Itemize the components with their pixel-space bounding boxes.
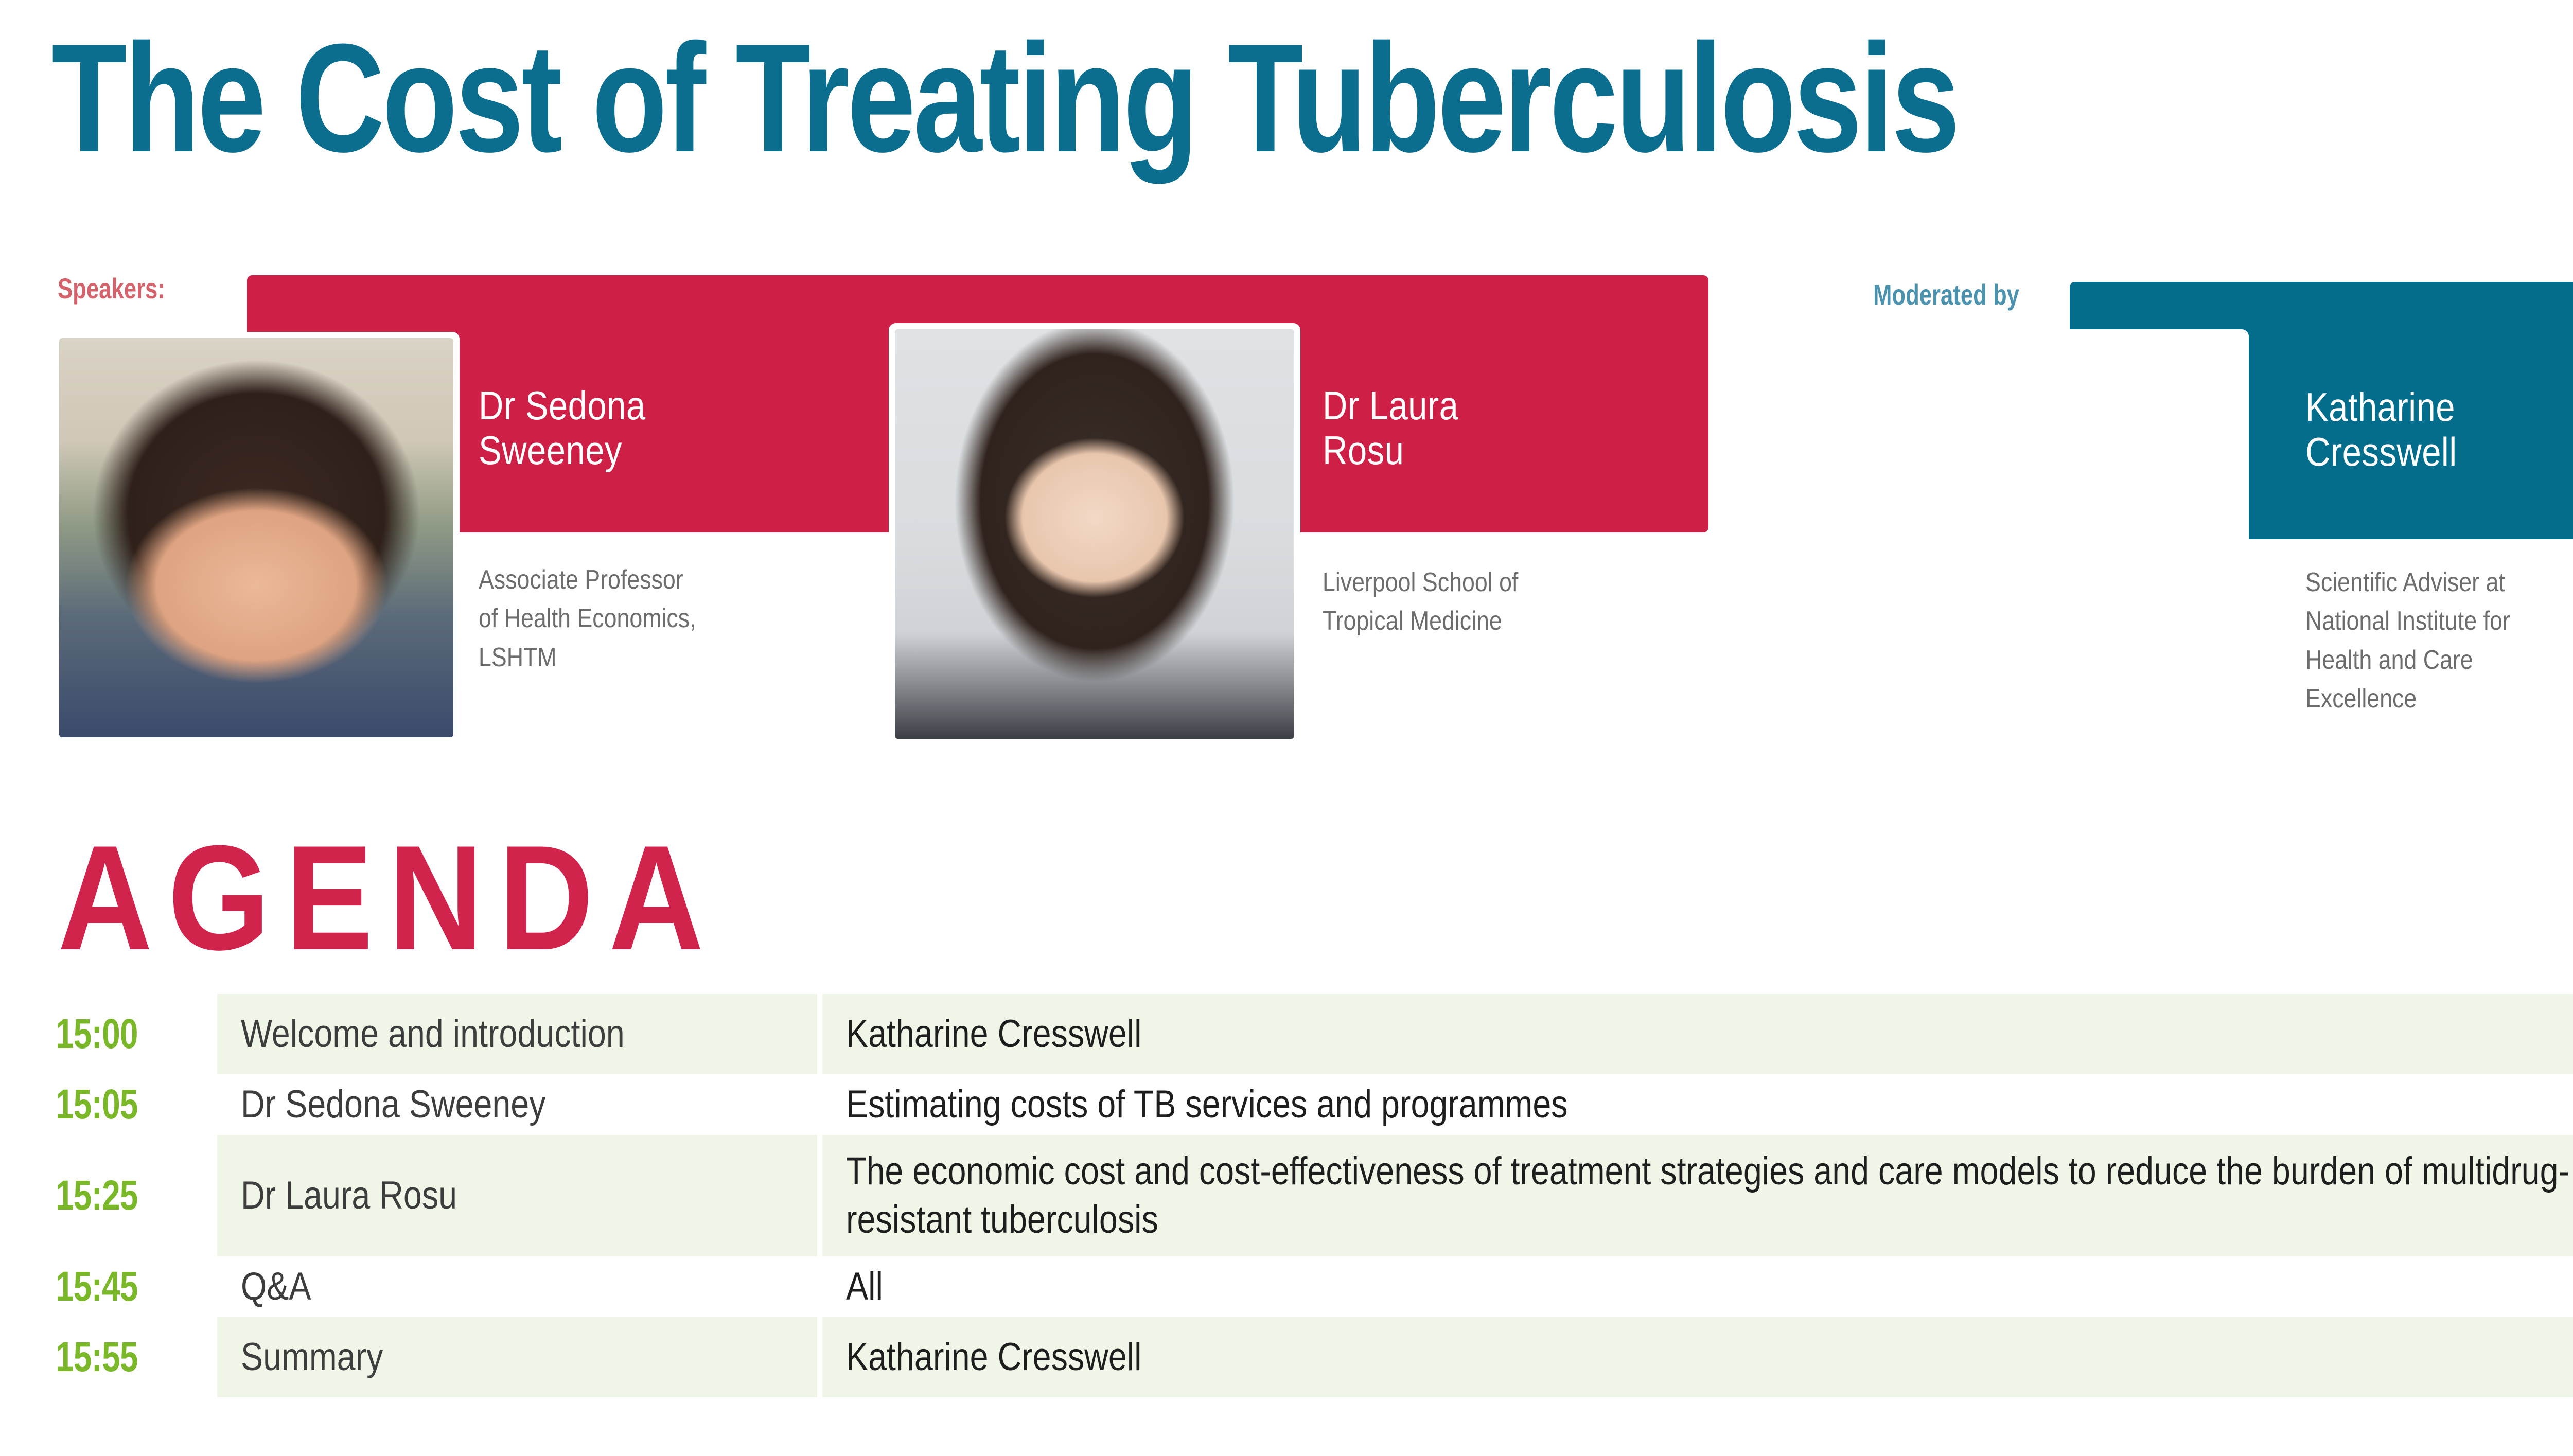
agenda-speaker: Welcome and introduction (217, 994, 817, 1074)
speaker-name-sedona-sweeney: Dr Sedona Sweeney (479, 383, 646, 473)
agenda-speaker-text: Dr Sedona Sweeney (241, 1082, 546, 1126)
agenda-description-text: Katharine Cresswell (846, 1333, 1141, 1381)
agenda-speaker: Q&A (217, 1256, 817, 1317)
agenda-description: The economic cost and cost-effectiveness… (817, 1135, 2573, 1256)
agenda-row: 15:45Q&AAll (0, 1256, 2573, 1317)
avatar-katharine-cresswell (1868, 329, 2249, 756)
moderator-role-katharine-cresswell: Scientific Adviser at National Institute… (2305, 563, 2510, 719)
agenda-heading: AGENDA (58, 823, 719, 972)
agenda-speaker-text: Q&A (241, 1265, 311, 1308)
speaker-role-laura-rosu: Liverpool School of Tropical Medicine (1323, 563, 1518, 641)
agenda-row: 15:25Dr Laura RosuThe economic cost and … (0, 1135, 2573, 1256)
agenda-time: 15:25 (0, 1135, 217, 1256)
agenda-time: 15:55 (0, 1317, 217, 1397)
agenda-description: All (817, 1256, 2573, 1317)
agenda-row: 15:55SummaryKatharine Cresswell (0, 1317, 2573, 1397)
agenda-speaker-text: Summary (241, 1335, 383, 1379)
agenda-description: Katharine Cresswell (817, 994, 2573, 1074)
agenda-description-text: Katharine Cresswell (846, 1010, 1141, 1058)
portrait-image (59, 338, 453, 737)
avatar-sedona-sweeney (53, 332, 460, 743)
moderator-name-katharine-cresswell: Katharine Cresswell (2305, 385, 2457, 475)
agenda-time: 15:05 (0, 1074, 217, 1135)
agenda-row: 15:05Dr Sedona SweeneyEstimating costs o… (0, 1074, 2573, 1135)
speaker-name-laura-rosu: Dr Laura Rosu (1323, 383, 1458, 473)
portrait-image (895, 329, 1294, 739)
agenda-description-text: Estimating costs of TB services and prog… (846, 1080, 1568, 1129)
agenda-time-text: 15:25 (56, 1175, 138, 1217)
speakers-kicker: Speakers: (58, 274, 165, 303)
agenda-description: Katharine Cresswell (817, 1317, 2573, 1397)
agenda-speaker: Summary (217, 1317, 817, 1397)
agenda-time: 15:00 (0, 994, 217, 1074)
people-section: Speakers: Moderated by Dr Sedona Sweeney… (0, 0, 2573, 772)
moderated-by-kicker: Moderated by (1873, 280, 2019, 309)
agenda-time-text: 15:05 (56, 1084, 138, 1126)
agenda-description-text: All (846, 1263, 883, 1311)
agenda-speaker: Dr Laura Rosu (217, 1135, 817, 1256)
agenda-time: 15:45 (0, 1256, 217, 1317)
agenda-time-text: 15:55 (56, 1336, 138, 1378)
agenda-description: Estimating costs of TB services and prog… (817, 1074, 2573, 1135)
portrait-image (1874, 335, 2243, 750)
agenda-description-text: The economic cost and cost-effectiveness… (846, 1147, 2573, 1244)
agenda-speaker-text: Welcome and introduction (241, 1012, 625, 1056)
avatar-laura-rosu (889, 323, 1300, 745)
speaker-role-sedona-sweeney: Associate Professor of Health Economics,… (479, 561, 696, 677)
agenda-speaker: Dr Sedona Sweeney (217, 1074, 817, 1135)
agenda-row: 15:00Welcome and introductionKatharine C… (0, 994, 2573, 1074)
agenda-time-text: 15:00 (56, 1013, 138, 1055)
agenda-table: 15:00Welcome and introductionKatharine C… (0, 994, 2573, 1397)
agenda-time-text: 15:45 (56, 1266, 138, 1308)
agenda-speaker-text: Dr Laura Rosu (241, 1174, 457, 1217)
